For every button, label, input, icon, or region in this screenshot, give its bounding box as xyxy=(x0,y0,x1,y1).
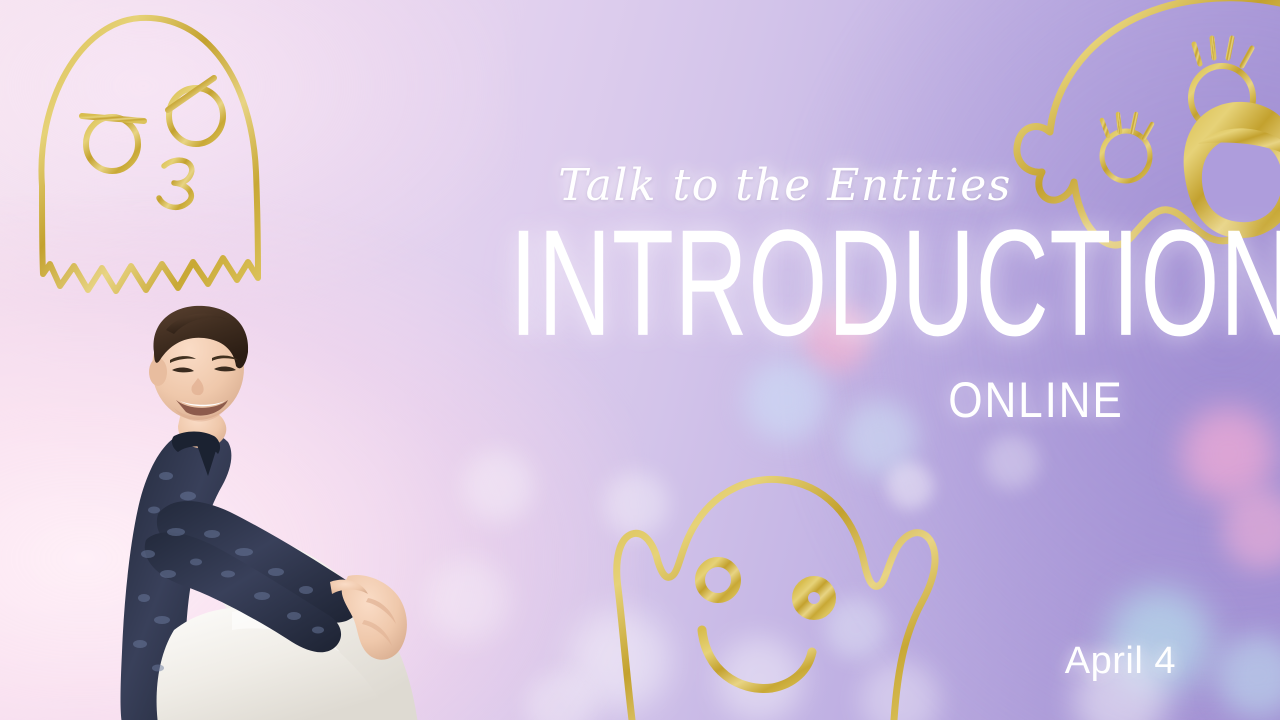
event-date: April 4 xyxy=(1065,640,1176,683)
slide-canvas: Talk to the Entities INTRODUCTION ONLINE… xyxy=(0,0,1280,720)
seated-man-photo xyxy=(62,300,462,720)
title-block: Talk to the Entities INTRODUCTION ONLINE xyxy=(440,160,1130,440)
format-label: ONLINE xyxy=(949,372,1124,430)
page-title: INTRODUCTION xyxy=(509,208,1068,359)
